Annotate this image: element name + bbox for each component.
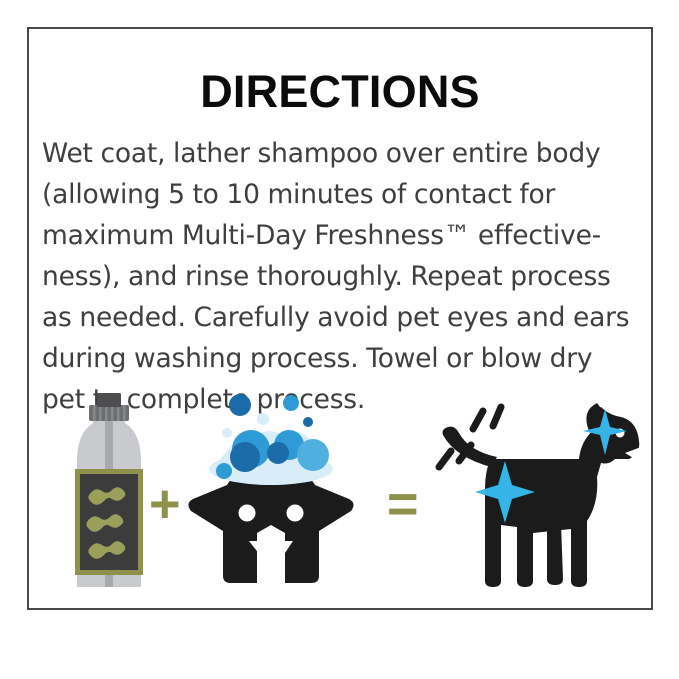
screenshot-root: DIRECTIONS Wet coat, lather shampoo over…: [0, 0, 679, 679]
process-illustration: +: [29, 391, 655, 591]
equals-sign: =: [387, 477, 419, 531]
directions-body-text: Wet coat, lather shampoo over entire bod…: [42, 133, 642, 420]
clean-dog-icon: [429, 393, 644, 593]
page-title: DIRECTIONS: [29, 69, 651, 114]
dog-head-with-suds-icon: [179, 393, 364, 593]
plus-sign: +: [149, 477, 181, 531]
directions-card: DIRECTIONS Wet coat, lather shampoo over…: [27, 27, 653, 610]
